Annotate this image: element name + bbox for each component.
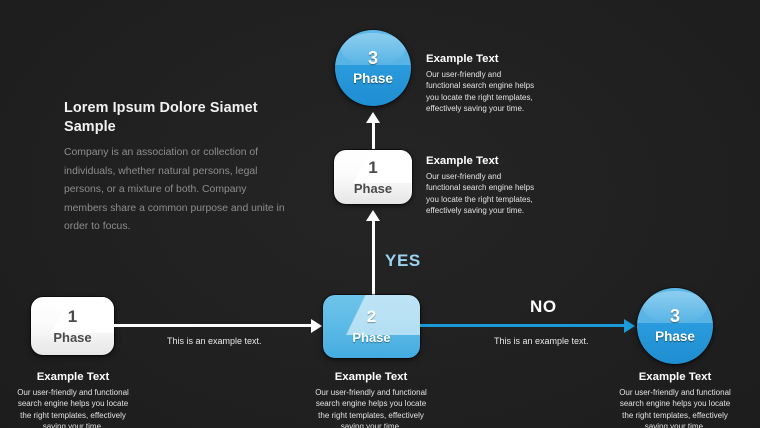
caption-title: Example Text: [614, 371, 736, 385]
caption-left: Example Text Our user-friendly and funct…: [12, 371, 134, 428]
headline-body: Company is an association or collection …: [64, 144, 292, 237]
page-title: Lorem Ipsum Dolore Siamet Sample: [64, 99, 292, 137]
node-label: 2 Phase: [323, 295, 420, 358]
caption-title: Example Text: [426, 53, 536, 67]
node-right-circle-phase-3[interactable]: 3 Phase: [637, 288, 713, 364]
caption-center: Example Text Our user-friendly and funct…: [310, 371, 432, 428]
caption-body: Our user-friendly and functional search …: [426, 171, 536, 217]
branch-label-no: NO: [530, 297, 557, 317]
node-number: 2: [367, 308, 376, 326]
caption-body: Our user-friendly and functional search …: [12, 387, 134, 428]
caption-right: Example Text Our user-friendly and funct…: [614, 371, 736, 428]
node-top-circle-phase-3[interactable]: 3 Phase: [335, 30, 411, 106]
caption-title: Example Text: [12, 371, 134, 385]
node-label: 1 Phase: [334, 150, 412, 204]
connector-center-to-mid-arrowhead-icon: [366, 210, 380, 221]
caption-title: Example Text: [310, 371, 432, 385]
caption-title: Example Text: [426, 155, 536, 169]
branch-label-yes: YES: [385, 251, 421, 271]
node-left-box-phase-1[interactable]: 1 Phase: [31, 297, 114, 355]
node-phase-label: Phase: [352, 331, 390, 345]
caption-top: Example Text Our user-friendly and funct…: [426, 53, 536, 115]
node-center-box-phase-2[interactable]: 2 Phase: [323, 295, 420, 358]
connector-center-to-right-label: This is an example text.: [494, 336, 589, 346]
node-phase-label: Phase: [354, 182, 392, 196]
connector-mid-to-top-arrowhead-icon: [366, 112, 380, 123]
node-label: 1 Phase: [31, 297, 114, 355]
node-number: 1: [368, 159, 377, 177]
node-number: 1: [68, 308, 77, 326]
caption-body: Our user-friendly and functional search …: [310, 387, 432, 428]
node-phase-label: Phase: [53, 331, 91, 345]
connector-center-to-right-arrowhead-icon: [624, 319, 635, 333]
connector-center-to-right-line: [420, 324, 625, 327]
node-phase-label: Phase: [353, 72, 393, 86]
connector-left-to-center-label: This is an example text.: [167, 336, 262, 346]
node-mid-box-phase-1[interactable]: 1 Phase: [334, 150, 412, 204]
connector-left-to-center-line: [114, 324, 312, 327]
caption-mid: Example Text Our user-friendly and funct…: [426, 155, 536, 217]
connector-mid-to-top-line: [372, 123, 375, 149]
node-phase-label: Phase: [655, 330, 695, 344]
node-number: 3: [368, 49, 378, 68]
connector-left-to-center-arrowhead-icon: [311, 319, 322, 333]
node-number: 3: [670, 307, 680, 326]
node-label: 3 Phase: [637, 288, 713, 364]
diagram-slide: Lorem Ipsum Dolore Siamet Sample Company…: [0, 0, 760, 428]
node-label: 3 Phase: [335, 30, 411, 106]
caption-body: Our user-friendly and functional search …: [426, 69, 536, 115]
headline-block: Lorem Ipsum Dolore Siamet Sample Company…: [64, 99, 292, 237]
caption-body: Our user-friendly and functional search …: [614, 387, 736, 428]
